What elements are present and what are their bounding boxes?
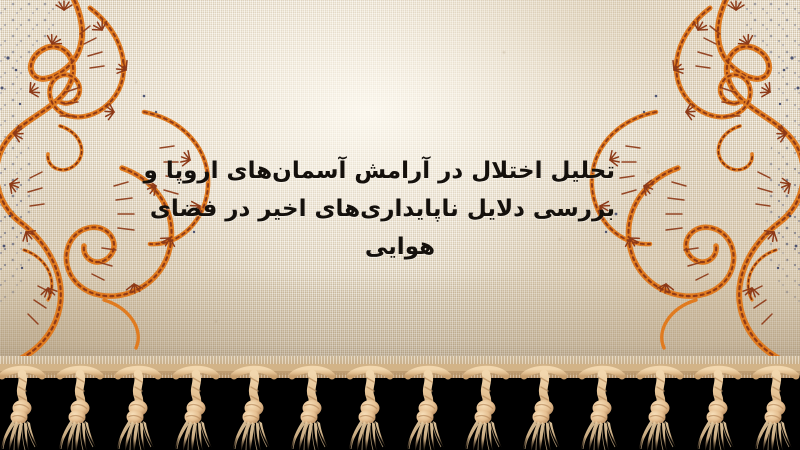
- title-line-2: بررسی دلایل ناپایداری‌های اخیر در فضای: [185, 190, 615, 228]
- title-line-3: هوایی: [185, 228, 615, 266]
- title-text-block: تحلیل اختلال در آرامش آسمان‌های اروپا و …: [185, 152, 615, 266]
- title-line-1: تحلیل اختلال در آرامش آسمان‌های اروپا و: [185, 152, 615, 190]
- fabric-selvage-edge: [0, 356, 800, 378]
- black-backdrop: [0, 372, 800, 450]
- title-card-image: تحلیل اختلال در آرامش آسمان‌های اروپا و …: [0, 0, 800, 450]
